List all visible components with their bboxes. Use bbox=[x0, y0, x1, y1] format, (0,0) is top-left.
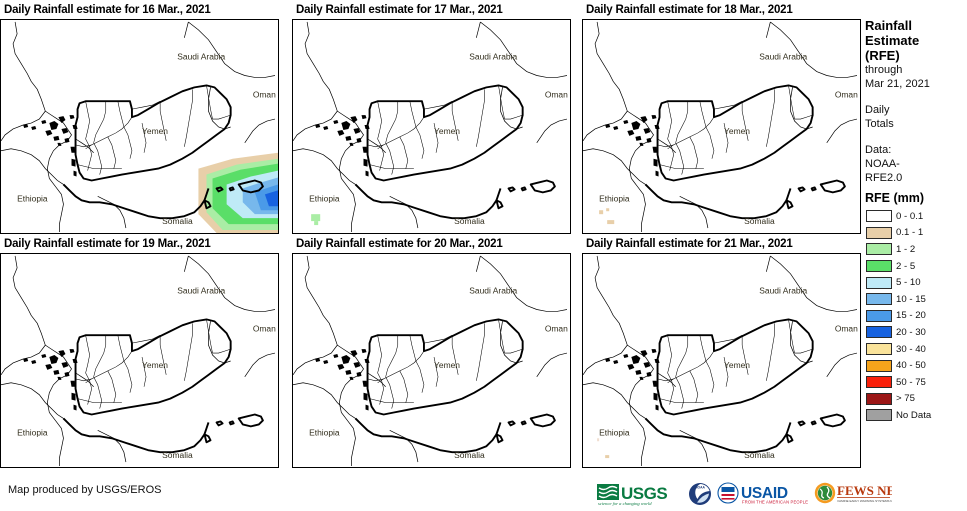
legend-label-0: 0 - 0.1 bbox=[896, 211, 923, 222]
legend-label-2: 1 - 2 bbox=[896, 244, 915, 255]
island-speckle bbox=[605, 349, 659, 410]
sidebar-totals-line1: Daily bbox=[865, 103, 967, 117]
legend-item-4: 5 - 10 bbox=[866, 274, 967, 291]
sidebar-totals-line2: Totals bbox=[865, 117, 967, 131]
rainfall-overlay-socotra bbox=[198, 153, 278, 233]
country-label-somalia: Somalia bbox=[744, 216, 775, 226]
usaid-logo[interactable]: USAID FROM THE AMERICAN PEOPLE bbox=[717, 481, 809, 507]
legend-swatch-6 bbox=[866, 310, 892, 322]
legend-item-6: 15 - 20 bbox=[866, 308, 967, 325]
svg-text:FEWS NET: FEWS NET bbox=[837, 483, 892, 498]
map-panel-2[interactable]: Daily Rainfall estimate for 17 Mar., 202… bbox=[292, 2, 571, 234]
map-canvas: Saudi ArabiaOmanYemenEthiopiaSomalia bbox=[293, 20, 570, 233]
legend-label-10: 50 - 75 bbox=[896, 377, 926, 388]
legend-label-11: > 75 bbox=[896, 393, 915, 404]
country-label-ethiopia: Ethiopia bbox=[309, 193, 340, 203]
svg-text:FROM THE AMERICAN PEOPLE: FROM THE AMERICAN PEOPLE bbox=[742, 500, 808, 505]
legend-item-0: 0 - 0.1 bbox=[866, 208, 967, 225]
panel-title-6: Daily Rainfall estimate for 21 Mar., 202… bbox=[582, 236, 861, 253]
legend-swatch-0 bbox=[866, 210, 892, 222]
legend-item-1: 0.1 - 1 bbox=[866, 225, 967, 242]
map-panel-5[interactable]: Daily Rainfall estimate for 20 Mar., 202… bbox=[292, 236, 571, 468]
map-box-6: Saudi ArabiaOmanYemenEthiopiaSomalia bbox=[582, 253, 861, 468]
usgs-logo-icon: USGS science for a changing world bbox=[597, 482, 683, 506]
legend-swatch-10 bbox=[866, 376, 892, 388]
country-label-somalia: Somalia bbox=[162, 450, 193, 460]
national-boundaries bbox=[645, 85, 844, 218]
legend-item-11: > 75 bbox=[866, 391, 967, 408]
noaa-logo-icon: NOAA bbox=[688, 482, 712, 506]
legend-swatch-2 bbox=[866, 243, 892, 255]
sidebar-title-line3: (RFE) bbox=[865, 48, 967, 63]
island-speckle bbox=[315, 115, 369, 176]
legend-label-8: 30 - 40 bbox=[896, 344, 926, 355]
country-label-saudi-arabia: Saudi Arabia bbox=[177, 286, 225, 296]
noaa-logo[interactable]: NOAA bbox=[688, 481, 712, 507]
legend-item-10: 50 - 75 bbox=[866, 374, 967, 391]
sidebar-data-label: Data: bbox=[865, 143, 967, 157]
rainfall-overlay-ethiopia bbox=[599, 208, 614, 224]
map-panel-4[interactable]: Daily Rainfall estimate for 19 Mar., 202… bbox=[0, 236, 279, 468]
map-frame-4[interactable]: Saudi ArabiaOmanYemenEthiopiaSomalia bbox=[0, 253, 279, 468]
national-boundaries bbox=[355, 319, 554, 452]
legend-swatch-1 bbox=[866, 227, 892, 239]
map-canvas: Saudi ArabiaOmanYemenEthiopiaSomalia bbox=[583, 20, 860, 233]
legend-item-8: 30 - 40 bbox=[866, 341, 967, 358]
legend-label-6: 15 - 20 bbox=[896, 310, 926, 321]
country-label-ethiopia: Ethiopia bbox=[599, 193, 630, 203]
map-canvas: Saudi ArabiaOmanYemenEthiopiaSomalia bbox=[583, 254, 860, 467]
island-speckle bbox=[23, 115, 77, 176]
legend-label-7: 20 - 30 bbox=[896, 327, 926, 338]
legend-title: RFE (mm) bbox=[865, 191, 967, 205]
country-label-yemen: Yemen bbox=[434, 126, 460, 136]
legend-swatch-5 bbox=[866, 293, 892, 305]
legend-item-3: 2 - 5 bbox=[866, 258, 967, 275]
map-panel-grid: Daily Rainfall estimate for 16 Mar., 202… bbox=[0, 0, 855, 478]
panel-title-4: Daily Rainfall estimate for 19 Mar., 202… bbox=[0, 236, 279, 253]
national-boundaries bbox=[645, 319, 844, 452]
legend-swatch-9 bbox=[866, 360, 892, 372]
legend-label-3: 2 - 5 bbox=[896, 261, 915, 272]
map-frame-3[interactable]: Saudi ArabiaOmanYemenEthiopiaSomalia bbox=[582, 19, 861, 234]
rainfall-overlay-ethiopia bbox=[597, 438, 609, 458]
country-label-ethiopia: Ethiopia bbox=[309, 427, 340, 437]
sidebar-through-date: Mar 21, 2021 bbox=[865, 77, 967, 91]
country-label-saudi-arabia: Saudi Arabia bbox=[759, 286, 807, 296]
sidebar-through-label: through bbox=[865, 63, 967, 77]
country-label-saudi-arabia: Saudi Arabia bbox=[177, 52, 225, 62]
agency-logo-row: USGS science for a changing world NOAA U… bbox=[597, 479, 892, 509]
country-label-ethiopia: Ethiopia bbox=[599, 427, 630, 437]
island-speckle bbox=[605, 115, 659, 176]
country-label-oman: Oman bbox=[253, 89, 276, 99]
legend-label-5: 10 - 15 bbox=[896, 294, 926, 305]
map-canvas: Saudi ArabiaOmanYemenEthiopiaSomalia bbox=[1, 20, 278, 233]
legend-item-12: No Data bbox=[866, 407, 967, 424]
panel-title-5: Daily Rainfall estimate for 20 Mar., 202… bbox=[292, 236, 571, 253]
country-label-ethiopia: Ethiopia bbox=[17, 193, 48, 203]
country-label-ethiopia: Ethiopia bbox=[17, 427, 48, 437]
svg-text:NOAA: NOAA bbox=[695, 486, 705, 490]
map-canvas: Saudi ArabiaOmanYemenEthiopiaSomalia bbox=[1, 254, 278, 467]
map-canvas: Saudi ArabiaOmanYemenEthiopiaSomalia bbox=[293, 254, 570, 467]
legend-label-9: 40 - 50 bbox=[896, 360, 926, 371]
country-label-oman: Oman bbox=[545, 89, 568, 99]
sidebar-title-line2: Estimate bbox=[865, 33, 967, 48]
legend-swatch-3 bbox=[866, 260, 892, 272]
island-speckle bbox=[315, 349, 369, 410]
map-panel-6[interactable]: Daily Rainfall estimate for 21 Mar., 202… bbox=[582, 236, 861, 468]
usaid-logo-icon: USAID FROM THE AMERICAN PEOPLE bbox=[717, 482, 809, 506]
country-label-somalia: Somalia bbox=[162, 216, 193, 226]
map-box-2: Saudi ArabiaOmanYemenEthiopiaSomalia bbox=[292, 19, 571, 234]
sidebar-title: Rainfall Estimate (RFE) bbox=[865, 18, 967, 63]
country-label-somalia: Somalia bbox=[454, 216, 485, 226]
map-frame-2[interactable]: Saudi ArabiaOmanYemenEthiopiaSomalia bbox=[292, 19, 571, 234]
country-label-somalia: Somalia bbox=[454, 450, 485, 460]
legend-item-2: 1 - 2 bbox=[866, 241, 967, 258]
spacer-2 bbox=[860, 131, 967, 143]
map-panel-3[interactable]: Daily Rainfall estimate for 18 Mar., 202… bbox=[582, 2, 861, 234]
legend-swatch-12 bbox=[866, 409, 892, 421]
country-label-saudi-arabia: Saudi Arabia bbox=[759, 52, 807, 62]
sidebar: Rainfall Estimate (RFE) through Mar 21, … bbox=[860, 0, 967, 478]
national-boundaries bbox=[63, 319, 262, 452]
country-label-yemen: Yemen bbox=[724, 126, 750, 136]
legend-item-7: 20 - 30 bbox=[866, 324, 967, 341]
country-label-saudi-arabia: Saudi Arabia bbox=[469, 52, 517, 62]
legend-swatch-8 bbox=[866, 343, 892, 355]
usgs-logo[interactable]: USGS science for a changing world bbox=[597, 481, 683, 507]
sidebar-title-line1: Rainfall bbox=[865, 18, 967, 33]
svg-text:FAMINE EARLY WARNING SYSTEMS N: FAMINE EARLY WARNING SYSTEMS NETWORK bbox=[838, 499, 893, 503]
legend-item-5: 10 - 15 bbox=[866, 291, 967, 308]
rainfall-overlay-ethiopia bbox=[311, 214, 320, 225]
sidebar-data-source-line1: NOAA- bbox=[865, 157, 967, 171]
country-label-oman: Oman bbox=[835, 323, 858, 333]
national-boundaries bbox=[355, 85, 554, 218]
country-label-oman: Oman bbox=[253, 323, 276, 333]
country-label-yemen: Yemen bbox=[142, 360, 168, 370]
map-frame-1[interactable]: Saudi ArabiaOmanYemenEthiopiaSomalia bbox=[0, 19, 279, 234]
map-panel-1[interactable]: Daily Rainfall estimate for 16 Mar., 202… bbox=[0, 2, 279, 234]
country-label-saudi-arabia: Saudi Arabia bbox=[469, 286, 517, 296]
panel-title-2: Daily Rainfall estimate for 17 Mar., 202… bbox=[292, 2, 571, 19]
country-label-yemen: Yemen bbox=[142, 126, 168, 136]
legend-label-1: 0.1 - 1 bbox=[896, 227, 923, 238]
map-frame-5[interactable]: Saudi ArabiaOmanYemenEthiopiaSomalia bbox=[292, 253, 571, 468]
country-label-yemen: Yemen bbox=[724, 360, 750, 370]
map-box-3: Saudi ArabiaOmanYemenEthiopiaSomalia bbox=[582, 19, 861, 234]
legend-label-12: No Data bbox=[896, 410, 931, 421]
svg-text:science for a changing world: science for a changing world bbox=[598, 501, 652, 506]
map-box-1: Saudi ArabiaOmanYemenEthiopiaSomalia bbox=[0, 19, 279, 234]
island-speckle bbox=[23, 349, 77, 410]
legend-label-4: 5 - 10 bbox=[896, 277, 921, 288]
legend-swatch-11 bbox=[866, 393, 892, 405]
map-credit: Map produced by USGS/EROS bbox=[8, 484, 161, 496]
map-box-5: Saudi ArabiaOmanYemenEthiopiaSomalia bbox=[292, 253, 571, 468]
map-box-4: Saudi ArabiaOmanYemenEthiopiaSomalia bbox=[0, 253, 279, 468]
country-label-oman: Oman bbox=[545, 323, 568, 333]
panel-title-3: Daily Rainfall estimate for 18 Mar., 202… bbox=[582, 2, 861, 19]
legend-swatch-7 bbox=[866, 326, 892, 338]
legend-swatch-4 bbox=[866, 277, 892, 289]
legend-list: 0 - 0.1 0.1 - 1 1 - 2 2 - 5 5 - 10 10 - … bbox=[860, 208, 967, 424]
spacer-1 bbox=[860, 91, 967, 103]
sidebar-data-source-line2: RFE2.0 bbox=[865, 171, 967, 185]
panel-title-1: Daily Rainfall estimate for 16 Mar., 202… bbox=[0, 2, 279, 19]
country-label-somalia: Somalia bbox=[744, 450, 775, 460]
map-frame-6[interactable]: Saudi ArabiaOmanYemenEthiopiaSomalia bbox=[582, 253, 861, 468]
legend-item-9: 40 - 50 bbox=[866, 357, 967, 374]
fews-net-logo-icon: FEWS NET FAMINE EARLY WARNING SYSTEMS NE… bbox=[814, 481, 892, 507]
country-label-yemen: Yemen bbox=[434, 360, 460, 370]
country-label-oman: Oman bbox=[835, 89, 858, 99]
fews-net-logo[interactable]: FEWS NET FAMINE EARLY WARNING SYSTEMS NE… bbox=[814, 481, 892, 507]
